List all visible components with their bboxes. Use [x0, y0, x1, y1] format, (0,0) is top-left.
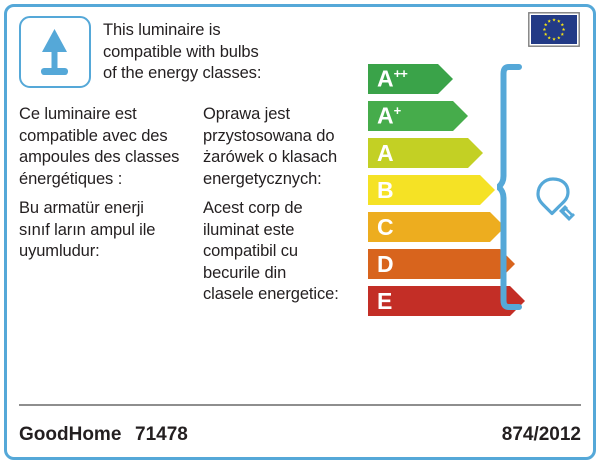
footer-divider — [19, 404, 581, 406]
energy-class-superscript: + — [394, 103, 401, 118]
text-english: This luminaire is compatible with bulbs … — [103, 20, 318, 85]
text-romanian: Acest corp de iluminat este compatibil c… — [203, 198, 368, 306]
energy-class-arrow: D — [368, 249, 516, 279]
text-polish: Oprawa jest przystosowana do żarówek o k… — [203, 104, 368, 190]
energy-class-arrow: A — [368, 138, 484, 168]
energy-class-letter: A+ — [368, 104, 400, 128]
energy-class-superscript: ++ — [394, 66, 407, 81]
energy-class-arrow: B — [368, 175, 496, 205]
brace-bracket-icon — [497, 64, 523, 310]
regulation-number: 874/2012 — [502, 424, 581, 446]
light-bulb-icon — [535, 175, 583, 231]
text-french: Ce luminaire est compatible avec des amp… — [19, 104, 204, 190]
text-turkish: Bu armatür enerji sınıf ların ampul ile … — [19, 198, 204, 263]
energy-class-letter: B — [368, 179, 394, 202]
table-lamp-icon — [21, 18, 88, 85]
energy-class-letter: A — [368, 142, 394, 165]
energy-class-letter: C — [368, 216, 394, 239]
energy-class-letter: E — [368, 290, 392, 313]
energy-class-arrow: A+ — [368, 101, 469, 131]
brand-name: GoodHome — [19, 424, 121, 446]
energy-label: This luminaire is compatible with bulbs … — [0, 0, 600, 464]
energy-class-letter: A++ — [368, 67, 407, 91]
energy-class-arrow: A++ — [368, 64, 454, 94]
model-number: 71478 — [135, 424, 188, 446]
lamp-icon-box — [19, 16, 91, 88]
energy-class-arrow: C — [368, 212, 506, 242]
energy-class-letter: D — [368, 253, 394, 276]
eu-flag-icon — [528, 12, 580, 47]
